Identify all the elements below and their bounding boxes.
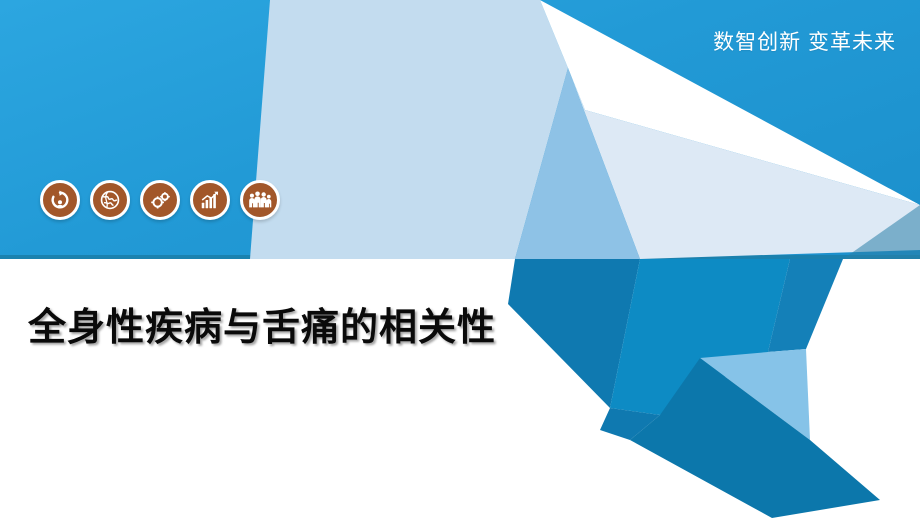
page-title: 全身性疾病与舌痛的相关性	[28, 296, 496, 351]
presentation-slide: 数智创新 变革未来	[0, 0, 920, 518]
people-group-icon[interactable]	[240, 180, 280, 220]
gears-icon[interactable]	[140, 180, 180, 220]
slide-tagline: 数智创新 变革未来	[713, 26, 896, 56]
icon-row	[40, 180, 280, 220]
low-poly-decoration	[0, 0, 920, 518]
bar-chart-icon[interactable]	[190, 180, 230, 220]
globe-icon[interactable]	[90, 180, 130, 220]
poly-pale-large	[250, 0, 568, 259]
refresh-arrow-icon[interactable]	[40, 180, 80, 220]
